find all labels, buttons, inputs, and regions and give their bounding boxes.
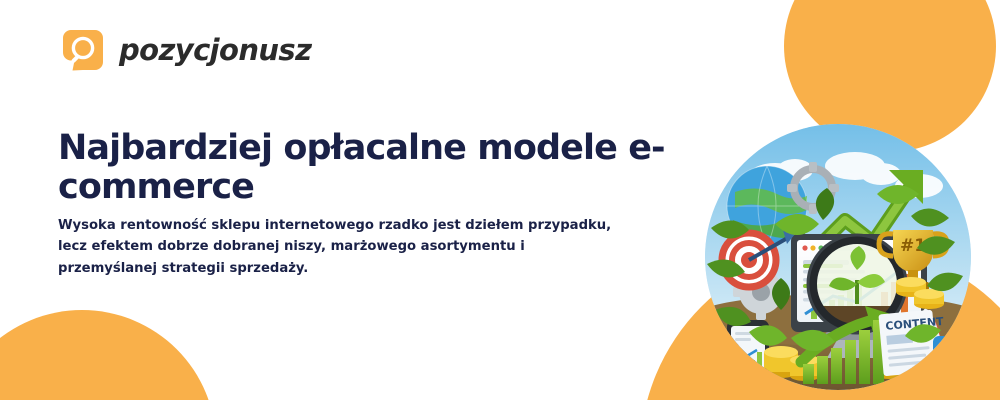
page-title: Najbardziej opłacalne modele e-commerce: [58, 129, 758, 207]
hero-subtitle: Wysoka rentowność sklepu internetowego r…: [58, 215, 618, 279]
pozycjonusz-logo-icon: [60, 27, 106, 73]
brand-name: pozycjonusz: [119, 36, 311, 65]
brand-logo[interactable]: pozycjonusz: [60, 27, 311, 73]
hero-banner: pozycjonusz Najbardziej opłacalne modele…: [0, 0, 1000, 400]
orange-circle-bottom-left-decoration: [0, 310, 216, 400]
